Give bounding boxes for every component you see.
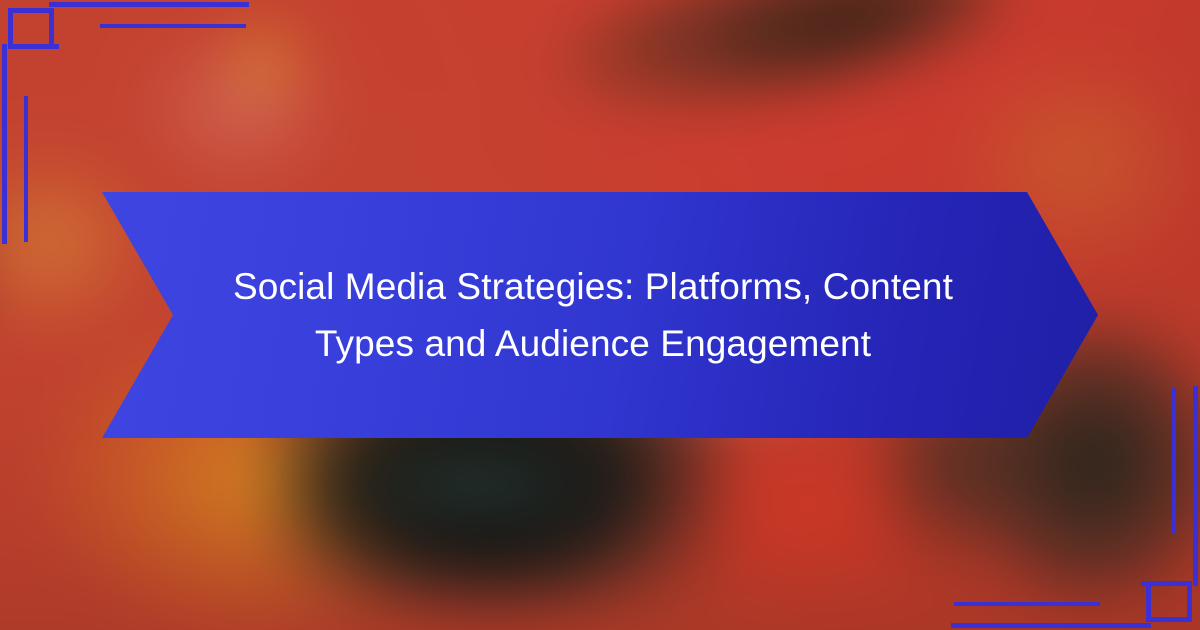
title-text-block: Social Media Strategies: Platforms, Cont… <box>102 192 1098 438</box>
title-line-1: Social Media Strategies: Platforms, Cont… <box>233 258 953 315</box>
title-line-2: Types and Audience Engagement <box>315 315 871 372</box>
title-ribbon: Social Media Strategies: Platforms, Cont… <box>102 192 1098 438</box>
banner-canvas: Social Media Strategies: Platforms, Cont… <box>0 0 1200 630</box>
